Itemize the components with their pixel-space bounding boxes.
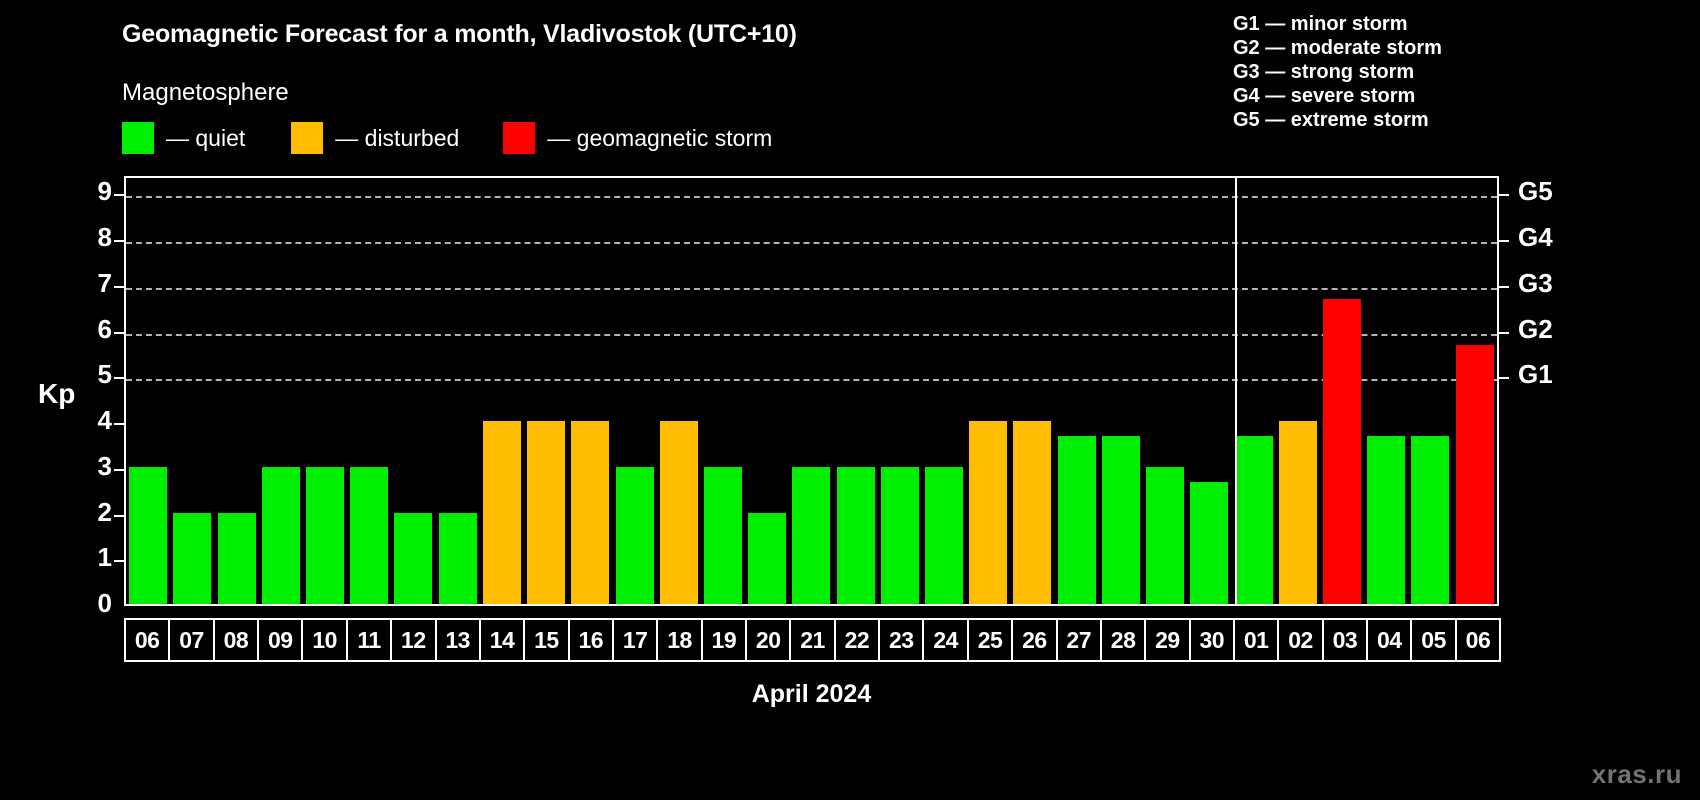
day-label-03: 03 <box>1322 618 1368 662</box>
y-tick-mark <box>114 423 124 425</box>
y-tick-label-5: 5 <box>72 359 112 390</box>
bar-28-quiet <box>1102 436 1140 604</box>
y-axis-title: Kp <box>38 378 75 410</box>
bar-cell <box>1187 178 1231 604</box>
y-tick-mark <box>114 469 124 471</box>
bar-cell <box>170 178 214 604</box>
y-tick-mark <box>114 194 124 196</box>
g-scale-row-g3: G3 — strong storm <box>1233 60 1442 84</box>
bar-15-disturbed <box>527 421 565 604</box>
y-tick-label-6: 6 <box>72 314 112 345</box>
y-tick-mark <box>114 377 124 379</box>
bar-03-storm <box>1323 299 1361 604</box>
day-label-21: 21 <box>789 618 835 662</box>
bar-06-quiet <box>129 467 167 604</box>
y-tick-mark <box>114 286 124 288</box>
g-scale-row-g1: G1 — minor storm <box>1233 12 1442 36</box>
day-label-13: 13 <box>435 618 481 662</box>
bar-cell <box>391 178 435 604</box>
bar-cell <box>303 178 347 604</box>
bar-cell <box>1320 178 1364 604</box>
bar-cell <box>1099 178 1143 604</box>
bar-14-disturbed <box>483 421 521 604</box>
bar-cell <box>1276 178 1320 604</box>
bar-cell <box>480 178 524 604</box>
bar-cell <box>878 178 922 604</box>
geomagnetic-forecast-chart: Geomagnetic Forecast for a month, Vladiv… <box>0 0 1700 800</box>
bar-21-quiet <box>792 467 830 604</box>
legend-label-disturbed: — disturbed <box>335 122 459 154</box>
day-label-02: 02 <box>1277 618 1323 662</box>
day-label-29: 29 <box>1144 618 1190 662</box>
bar-cell <box>1453 178 1497 604</box>
bar-06-storm <box>1456 345 1494 604</box>
g-tick-label-g2: G2 <box>1518 314 1553 345</box>
day-label-28: 28 <box>1100 618 1146 662</box>
bar-13-quiet <box>439 513 477 604</box>
g-scale-row-g2: G2 — moderate storm <box>1233 36 1442 60</box>
y-tick-label-3: 3 <box>72 451 112 482</box>
forecast-divider <box>1235 178 1237 604</box>
bar-04-quiet <box>1367 436 1405 604</box>
day-label-27: 27 <box>1056 618 1102 662</box>
x-axis-day-labels: 0607080910111213141516171819202122232425… <box>124 618 1499 662</box>
day-label-20: 20 <box>745 618 791 662</box>
bar-cell <box>1055 178 1099 604</box>
y-tick-label-4: 4 <box>72 405 112 436</box>
bar-cell <box>214 178 258 604</box>
day-label-06: 06 <box>1455 618 1501 662</box>
g-tick-label-g4: G4 <box>1518 222 1553 253</box>
day-label-22: 22 <box>834 618 880 662</box>
g-tick-mark <box>1499 286 1509 288</box>
day-label-08: 08 <box>213 618 259 662</box>
g-tick-mark <box>1499 332 1509 334</box>
bar-cell <box>745 178 789 604</box>
bar-cell <box>126 178 170 604</box>
y-tick-label-9: 9 <box>72 176 112 207</box>
watermark: xras.ru <box>1592 759 1682 790</box>
bar-27-quiet <box>1058 436 1096 604</box>
g-scale-row-g5: G5 — extreme storm <box>1233 108 1442 132</box>
g-tick-mark <box>1499 377 1509 379</box>
y-tick-label-2: 2 <box>72 497 112 528</box>
bar-30-quiet <box>1190 482 1228 604</box>
page-title: Geomagnetic Forecast for a month, Vladiv… <box>122 20 797 49</box>
day-label-24: 24 <box>922 618 968 662</box>
bar-23-quiet <box>881 467 919 604</box>
y-tick-label-8: 8 <box>72 222 112 253</box>
bar-cell <box>436 178 480 604</box>
bar-18-disturbed <box>660 421 698 604</box>
day-label-17: 17 <box>612 618 658 662</box>
day-label-18: 18 <box>656 618 702 662</box>
g-tick-mark <box>1499 194 1509 196</box>
day-label-25: 25 <box>967 618 1013 662</box>
bar-cell <box>966 178 1010 604</box>
bar-01-quiet <box>1235 436 1273 604</box>
day-label-05: 05 <box>1410 618 1456 662</box>
legend-item-storm: — geomagnetic storm <box>503 122 772 154</box>
x-axis-title: April 2024 <box>124 680 1499 709</box>
day-label-12: 12 <box>390 618 436 662</box>
bar-17-quiet <box>616 467 654 604</box>
bar-cell <box>789 178 833 604</box>
y-tick-label-0: 0 <box>72 588 112 619</box>
day-label-16: 16 <box>568 618 614 662</box>
day-label-23: 23 <box>878 618 924 662</box>
bar-cell <box>568 178 612 604</box>
legend-label-quiet: — quiet <box>166 122 245 154</box>
bar-series <box>126 178 1497 604</box>
g-scale-row-g4: G4 — severe storm <box>1233 84 1442 108</box>
chart-subtitle: Magnetosphere <box>122 79 289 107</box>
g-tick-label-g5: G5 <box>1518 176 1553 207</box>
day-label-11: 11 <box>346 618 392 662</box>
bar-16-disturbed <box>571 421 609 604</box>
bar-cell <box>1408 178 1452 604</box>
legend-label-storm: — geomagnetic storm <box>547 122 772 154</box>
green-square-icon <box>122 122 154 154</box>
g-tick-label-g1: G1 <box>1518 359 1553 390</box>
bar-05-quiet <box>1411 436 1449 604</box>
bar-11-quiet <box>350 467 388 604</box>
day-label-01: 01 <box>1233 618 1279 662</box>
bar-cell <box>1010 178 1054 604</box>
bar-19-quiet <box>704 467 742 604</box>
y-tick-mark <box>114 560 124 562</box>
bar-26-disturbed <box>1013 421 1051 604</box>
bar-08-quiet <box>218 513 256 604</box>
day-label-04: 04 <box>1366 618 1412 662</box>
day-label-07: 07 <box>168 618 214 662</box>
day-label-14: 14 <box>479 618 525 662</box>
g-tick-mark <box>1499 240 1509 242</box>
bar-cell <box>524 178 568 604</box>
bar-cell <box>834 178 878 604</box>
bar-07-quiet <box>173 513 211 604</box>
day-label-15: 15 <box>523 618 569 662</box>
bar-cell <box>657 178 701 604</box>
y-tick-mark <box>114 240 124 242</box>
bar-cell <box>701 178 745 604</box>
bar-cell <box>922 178 966 604</box>
day-label-09: 09 <box>257 618 303 662</box>
bar-25-disturbed <box>969 421 1007 604</box>
day-label-10: 10 <box>301 618 347 662</box>
bar-cell <box>1364 178 1408 604</box>
bar-02-disturbed <box>1279 421 1317 604</box>
y-tick-label-1: 1 <box>72 542 112 573</box>
bar-12-quiet <box>394 513 432 604</box>
plot-area <box>124 176 1499 606</box>
bar-24-quiet <box>925 467 963 604</box>
y-tick-mark <box>114 332 124 334</box>
legend-item-quiet: — quiet <box>122 122 245 154</box>
bar-20-quiet <box>748 513 786 604</box>
y-tick-label-7: 7 <box>72 268 112 299</box>
g-scale-legend: G1 — minor storm G2 — moderate storm G3 … <box>1233 12 1442 132</box>
bar-09-quiet <box>262 467 300 604</box>
bar-cell <box>1231 178 1275 604</box>
red-square-icon <box>503 122 535 154</box>
y-tick-mark <box>114 515 124 517</box>
legend-item-disturbed: — disturbed <box>291 122 459 154</box>
day-label-06: 06 <box>124 618 170 662</box>
bar-10-quiet <box>306 467 344 604</box>
day-label-30: 30 <box>1189 618 1235 662</box>
g-tick-label-g3: G3 <box>1518 268 1553 299</box>
bar-29-quiet <box>1146 467 1184 604</box>
bar-cell <box>259 178 303 604</box>
bar-cell <box>347 178 391 604</box>
bar-cell <box>612 178 656 604</box>
day-label-26: 26 <box>1011 618 1057 662</box>
orange-square-icon <box>291 122 323 154</box>
bar-22-quiet <box>837 467 875 604</box>
color-legend: — quiet — disturbed — geomagnetic storm <box>122 122 772 154</box>
day-label-19: 19 <box>701 618 747 662</box>
bar-cell <box>1143 178 1187 604</box>
